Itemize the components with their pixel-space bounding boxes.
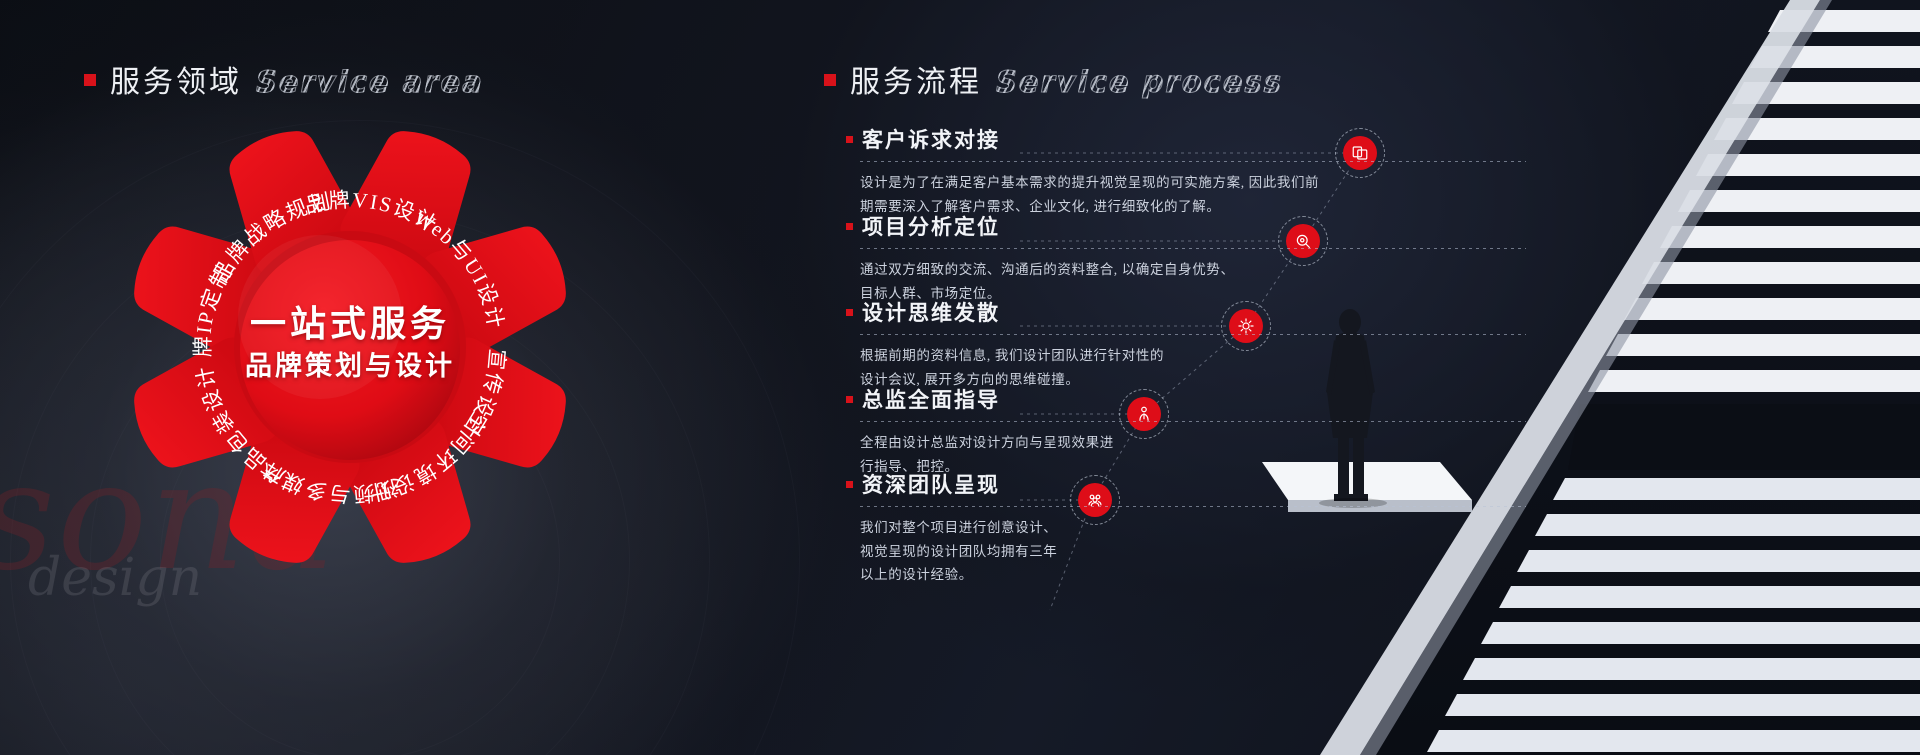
process-step-2: 项目分析定位 通过双方细致的交流、沟通后的资料整合, 以确定自身优势、 目标人群… (846, 211, 1526, 305)
step-body: 我们对整个项目进行创意设计、 视觉呈现的设计团队均拥有三年 以上的设计经验。 (860, 516, 1526, 587)
step-title: 客户诉求对接 (862, 124, 1000, 154)
right-section-title: 服务流程 Service process (824, 57, 1283, 101)
process-step-4: 总监全面指导 全程由设计总监对设计方向与呈现效果进 行指导、把控。 (846, 384, 1526, 478)
step-title: 项目分析定位 (862, 211, 1000, 241)
right-title-cn: 服务流程 (850, 57, 982, 101)
left-title-cn: 服务领域 (110, 57, 242, 101)
step-bullet-square (846, 309, 853, 316)
step-bullet-square (846, 396, 853, 403)
step-divider (860, 506, 1526, 507)
step-bullet-square (846, 136, 853, 143)
step-header: 资深团队呈现 (846, 469, 1526, 499)
core-line-1: 一站式服务 (115, 295, 585, 347)
step-divider (860, 421, 1526, 422)
step-title: 资深团队呈现 (862, 469, 1000, 499)
core-line-2: 品牌策划与设计 (115, 344, 585, 383)
step-divider (860, 248, 1526, 249)
step-title: 总监全面指导 (862, 384, 1000, 414)
process-step-3: 设计思维发散 根据前期的资料信息, 我们设计团队进行针对性的 设计会议, 展开多… (846, 297, 1526, 391)
process-step-1: 客户诉求对接 设计是为了在满足客户基本需求的提升视觉呈现的可实施方案, 因此我们… (846, 124, 1526, 218)
process-step-5: 资深团队呈现 我们对整个项目进行创意设计、 视觉呈现的设计团队均拥有三年 以上的… (846, 469, 1526, 587)
step-divider (860, 334, 1526, 335)
step-bullet-square (846, 481, 853, 488)
left-title-en: Service area (256, 65, 484, 99)
right-title-en: Service process (996, 65, 1283, 99)
step-title: 设计思维发散 (862, 297, 1000, 327)
step-divider (860, 161, 1526, 162)
left-section-title: 服务领域 Service area (84, 57, 484, 101)
step-header: 项目分析定位 (846, 211, 1526, 241)
title-bullet-square-left (84, 74, 96, 86)
service-area-flower-diagram: 品牌战略规划 品牌VIS设计 Web与UI设计 品牌IP定制 广告宣传设计 空间… (115, 112, 585, 582)
step-header: 设计思维发散 (846, 297, 1526, 327)
step-header: 总监全面指导 (846, 384, 1526, 414)
step-bullet-square (846, 223, 853, 230)
slide-canvas: sona design (0, 0, 1920, 755)
title-bullet-square-right (824, 74, 836, 86)
step-header: 客户诉求对接 (846, 124, 1526, 154)
